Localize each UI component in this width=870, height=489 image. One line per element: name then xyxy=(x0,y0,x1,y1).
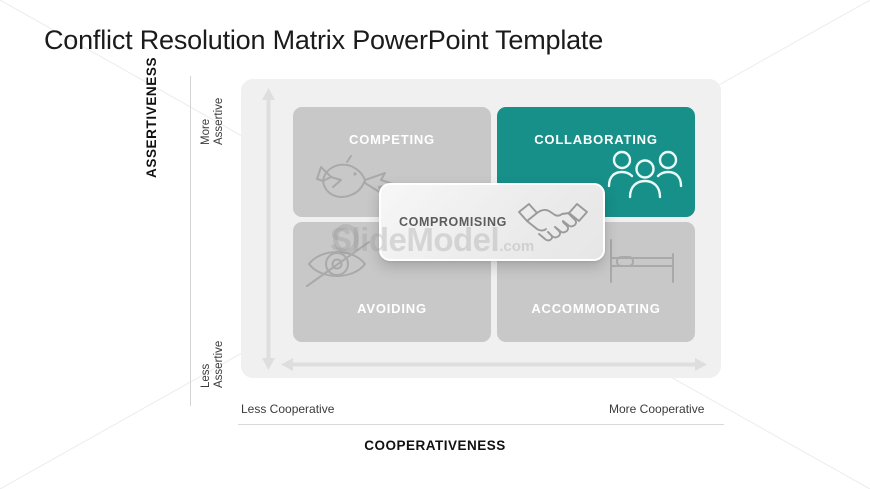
x-axis-title: COOPERATIVENESS xyxy=(0,438,870,453)
quadrant-accommodating-label: ACCOMMODATING xyxy=(497,301,695,316)
group-icon xyxy=(607,149,683,199)
page-title: Conflict Resolution Matrix PowerPoint Te… xyxy=(44,25,603,56)
x-axis-low-label: Less Cooperative xyxy=(241,402,334,416)
assertiveness-arrow-icon xyxy=(262,88,275,370)
x-axis-high-label: More Cooperative xyxy=(609,402,704,416)
y-axis-low-label: Less Assertive xyxy=(200,341,226,388)
quadrant-competing-label: COMPETING xyxy=(293,132,491,147)
y-axis-rule xyxy=(190,76,191,406)
y-axis-high-label: More Assertive xyxy=(200,98,226,145)
quadrant-avoiding-label: AVOIDING xyxy=(293,301,491,316)
eye-slash-icon xyxy=(303,236,387,292)
y-axis-high-line1: More xyxy=(200,98,213,145)
handshake-icon xyxy=(517,196,589,248)
y-axis-high-line2: Assertive xyxy=(213,98,226,145)
y-axis-low-line1: Less xyxy=(200,341,213,388)
y-axis-title: ASSERTIVENESS xyxy=(144,57,159,178)
x-axis-rule xyxy=(238,424,724,425)
slide-canvas: Conflict Resolution Matrix PowerPoint Te… xyxy=(0,0,870,489)
bed-icon xyxy=(605,236,679,286)
quadrant-collaborating-label: COLLABORATING xyxy=(497,132,695,147)
center-card-compromising[interactable]: COMPROMISING xyxy=(379,183,605,261)
center-card-label: COMPROMISING xyxy=(399,215,507,229)
y-axis-low-line2: Assertive xyxy=(213,341,226,388)
cooperativeness-arrow-icon xyxy=(281,358,707,371)
